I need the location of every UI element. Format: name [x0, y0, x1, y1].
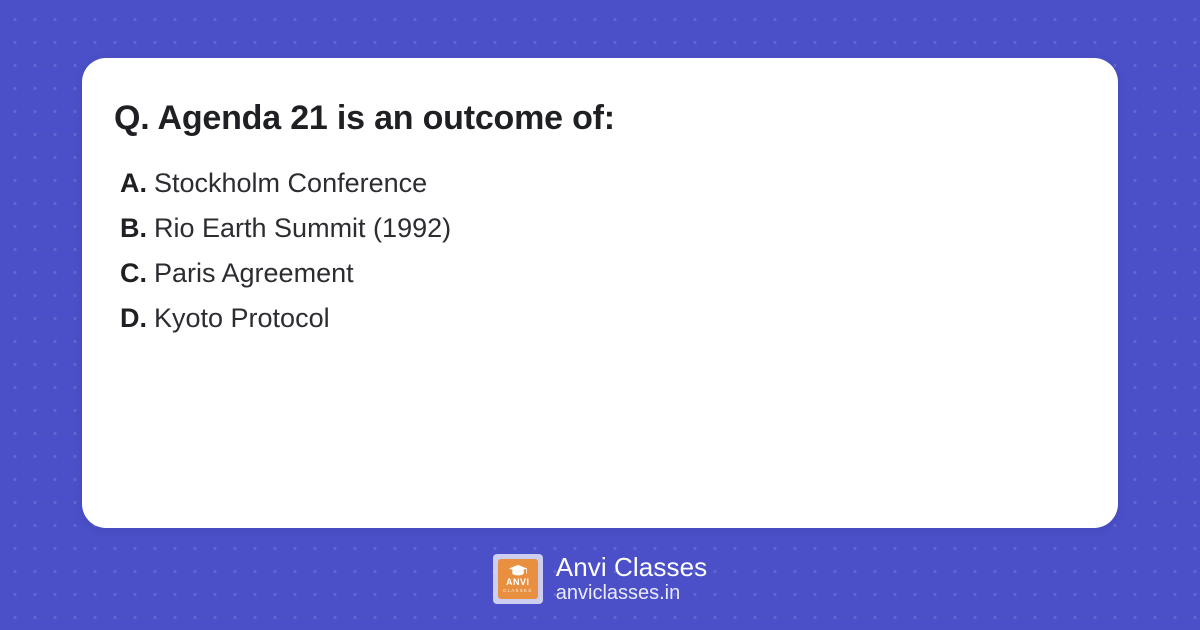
question-card: Q. Agenda 21 is an outcome of: A.Stockho… — [82, 58, 1118, 528]
option-d[interactable]: D.Kyoto Protocol — [120, 296, 1074, 341]
footer-branding: ANVI CLASSES Anvi Classes anviclasses.in — [0, 546, 1200, 612]
brand-url[interactable]: anviclasses.in — [556, 583, 707, 605]
logo-subtitle: CLASSES — [503, 588, 532, 594]
option-b-letter: B. — [120, 206, 154, 251]
brand-name: Anvi Classes — [556, 553, 707, 581]
option-b[interactable]: B.Rio Earth Summit (1992) — [120, 206, 1074, 251]
option-a-letter: A. — [120, 161, 154, 206]
option-a[interactable]: A.Stockholm Conference — [120, 161, 1074, 206]
option-c-letter: C. — [120, 251, 154, 296]
option-d-text: Kyoto Protocol — [154, 303, 330, 333]
options-list: A.Stockholm Conference B.Rio Earth Summi… — [114, 161, 1074, 341]
option-b-text: Rio Earth Summit (1992) — [154, 213, 451, 243]
graduation-cap-icon — [508, 564, 528, 577]
question-text: Q. Agenda 21 is an outcome of: — [114, 98, 1074, 139]
brand-text-block: Anvi Classes anviclasses.in — [556, 553, 707, 605]
quiz-slide: Q. Agenda 21 is an outcome of: A.Stockho… — [0, 0, 1200, 630]
logo-inner-tile: ANVI CLASSES — [498, 559, 538, 599]
option-c-text: Paris Agreement — [154, 258, 354, 288]
option-c[interactable]: C.Paris Agreement — [120, 251, 1074, 296]
logo-wordmark: ANVI — [506, 578, 530, 587]
option-d-letter: D. — [120, 296, 154, 341]
brand-logo: ANVI CLASSES — [493, 554, 543, 604]
option-a-text: Stockholm Conference — [154, 168, 427, 198]
